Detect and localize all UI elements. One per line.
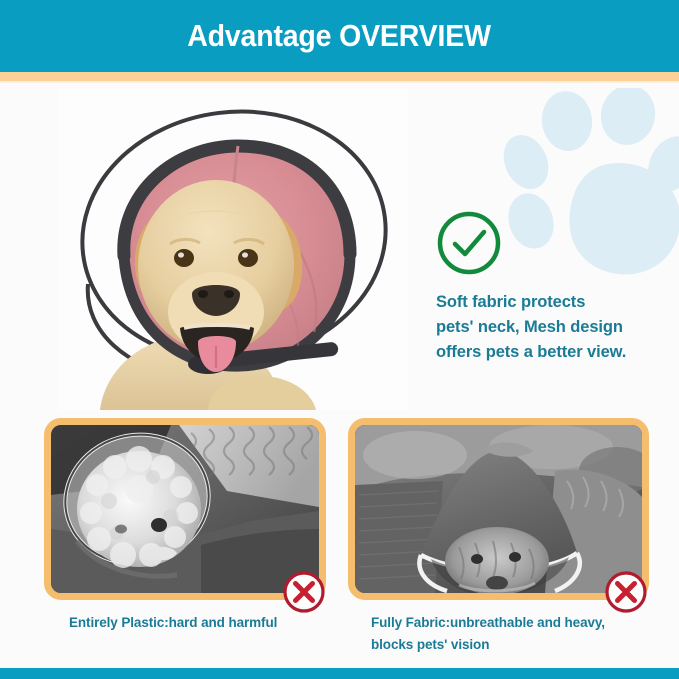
header-accent-stripe [0, 72, 679, 81]
page-title: Advantage OVERVIEW [188, 18, 492, 54]
footer-bar [0, 668, 679, 679]
advantage-callout: Soft fabric protects pets' neck, Mesh de… [436, 210, 661, 365]
header-accent-stripe-thin [0, 81, 679, 83]
x-circle-icon-plastic [282, 570, 326, 614]
infographic-page: Advantage OVERVIEW [0, 0, 679, 679]
caption-fabric-cone: Fully Fabric:unbreathable and heavy, blo… [371, 612, 646, 656]
x-circle-icon-fabric [604, 570, 648, 614]
caption-plastic-cone: Entirely Plastic:hard and harmful [69, 612, 324, 634]
hero-product-photo [58, 88, 408, 410]
check-circle-icon [436, 210, 502, 276]
plastic-cone-photo [51, 425, 319, 593]
advantage-description: Soft fabric protects pets' neck, Mesh de… [436, 290, 661, 365]
fabric-cone-photo [355, 425, 642, 593]
header-banner: Advantage OVERVIEW [0, 0, 679, 72]
